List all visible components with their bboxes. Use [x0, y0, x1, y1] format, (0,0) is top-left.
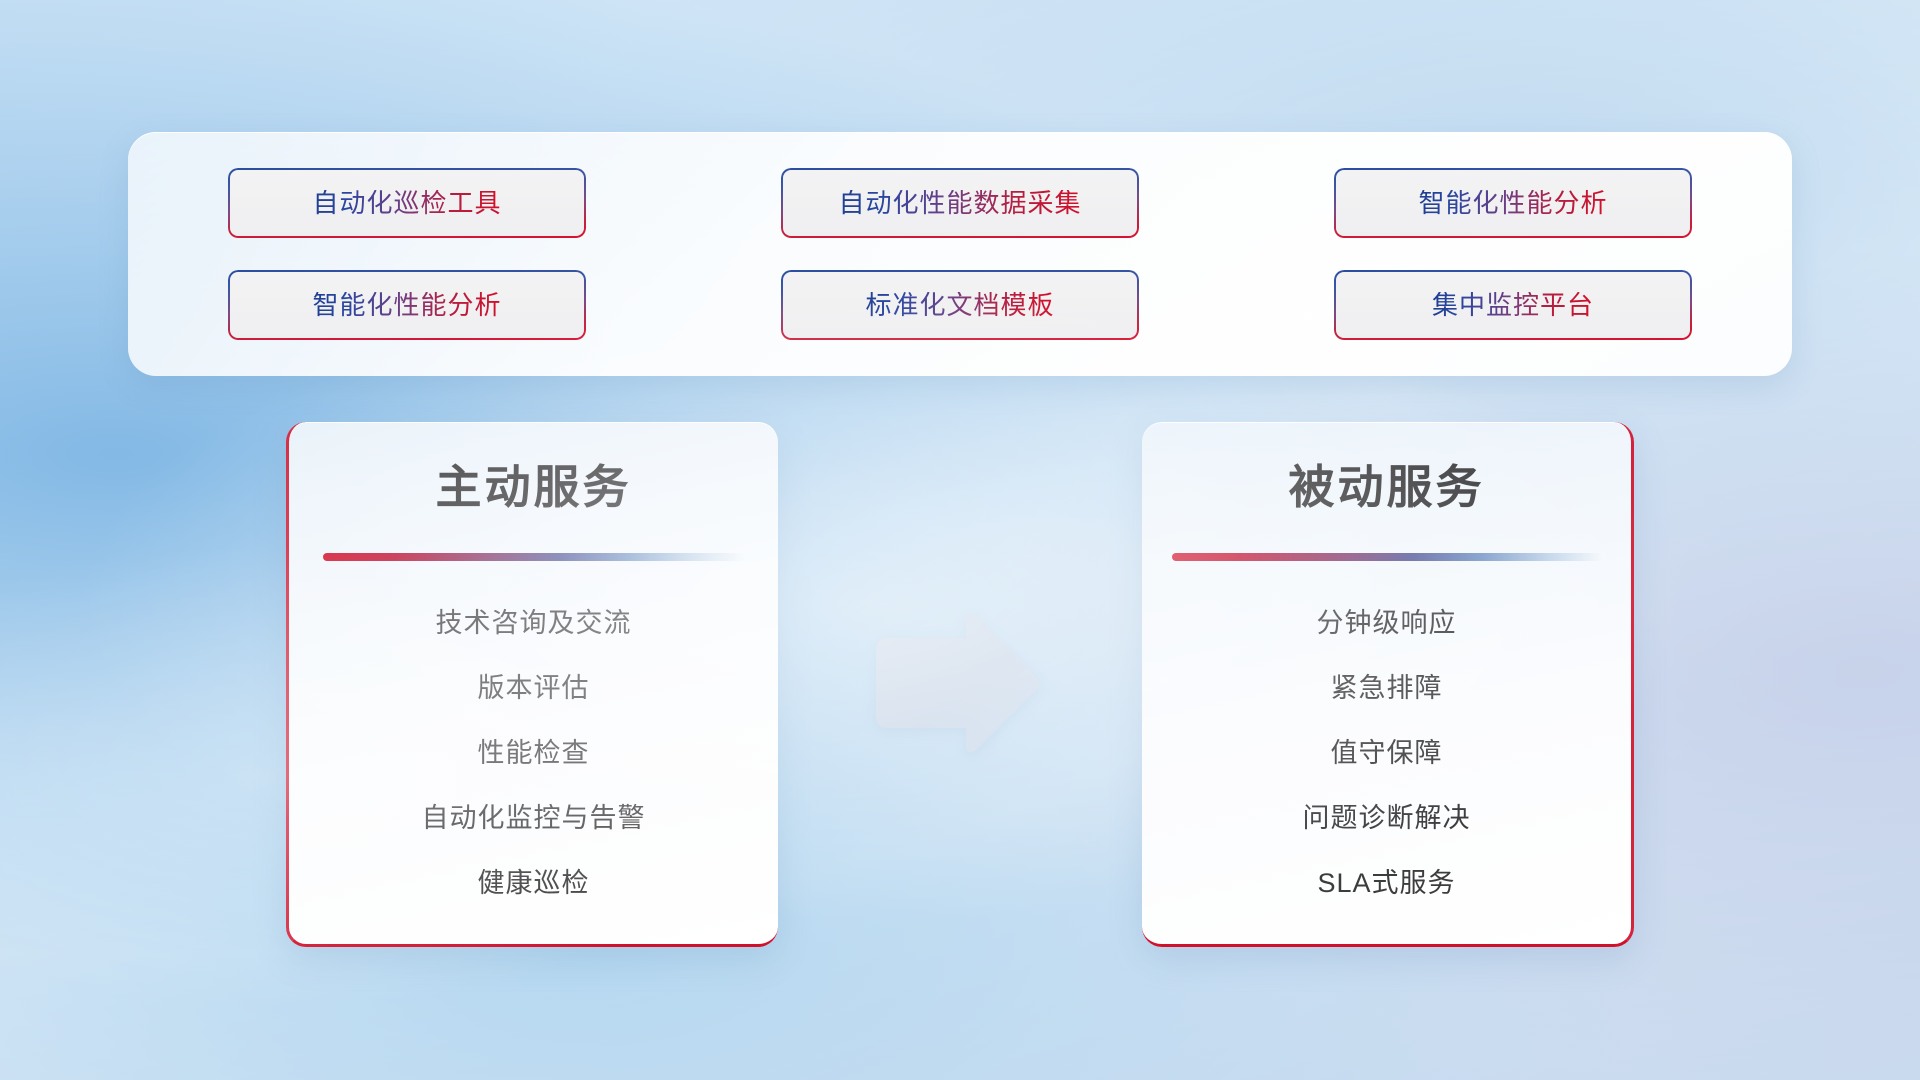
capability-tag-label: 自动化性能数据采集 [838, 190, 1081, 216]
capability-tag-3[interactable]: 智能化性能分析 [1334, 168, 1692, 238]
capability-tag-6[interactable]: 集中监控平台 [1334, 270, 1692, 340]
right-arrow-icon [870, 610, 1042, 756]
list-item: SLA式服务 [1142, 851, 1631, 916]
capability-tag-label: 智能化性能分析 [1418, 190, 1607, 216]
card-title: 主动服务 [289, 460, 778, 515]
capability-tag-4[interactable]: 智能化性能分析 [228, 270, 586, 340]
list-item: 版本评估 [289, 656, 778, 721]
poster-stage: 自动化巡检工具 自动化性能数据采集 智能化性能分析 智能化性能分析 标准化文档模… [0, 0, 1920, 1080]
capability-tag-1[interactable]: 自动化巡检工具 [228, 168, 586, 238]
proactive-service-card: 主动服务 技术咨询及交流 版本评估 性能检查 自动化监控与告警 健康巡检 [286, 422, 778, 947]
proactive-service-list: 技术咨询及交流 版本评估 性能检查 自动化监控与告警 健康巡检 [289, 561, 778, 916]
list-item: 紧急排障 [1142, 656, 1631, 721]
capability-tag-label: 标准化文档模板 [865, 292, 1054, 318]
capability-tag-5[interactable]: 标准化文档模板 [781, 270, 1139, 340]
card-title-divider [323, 553, 745, 561]
reactive-service-card: 被动服务 分钟级响应 紧急排障 值守保障 问题诊断解决 SLA式服务 [1142, 422, 1634, 947]
list-item: 值守保障 [1142, 721, 1631, 786]
list-item: 问题诊断解决 [1142, 786, 1631, 851]
list-item: 自动化监控与告警 [289, 786, 778, 851]
capability-panel: 自动化巡检工具 自动化性能数据采集 智能化性能分析 智能化性能分析 标准化文档模… [128, 132, 1792, 376]
list-item: 分钟级响应 [1142, 591, 1631, 656]
capability-tag-label: 集中监控平台 [1432, 292, 1594, 318]
card-title: 被动服务 [1142, 460, 1631, 515]
card-title-divider [1172, 553, 1602, 561]
capability-tag-grid: 自动化巡检工具 自动化性能数据采集 智能化性能分析 智能化性能分析 标准化文档模… [228, 168, 1692, 340]
capability-tag-label: 智能化性能分析 [312, 292, 501, 318]
capability-tag-label: 自动化巡检工具 [312, 190, 501, 216]
list-item: 健康巡检 [289, 851, 778, 916]
capability-tag-2[interactable]: 自动化性能数据采集 [781, 168, 1139, 238]
list-item: 技术咨询及交流 [289, 591, 778, 656]
list-item: 性能检查 [289, 721, 778, 786]
reactive-service-list: 分钟级响应 紧急排障 值守保障 问题诊断解决 SLA式服务 [1142, 561, 1631, 916]
